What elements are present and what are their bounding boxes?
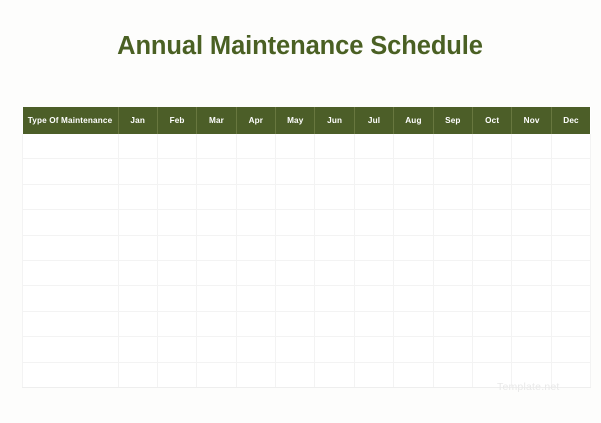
cell-feb[interactable] xyxy=(157,362,196,387)
cell-jun[interactable] xyxy=(315,184,354,209)
cell-mar[interactable] xyxy=(197,235,236,260)
cell-apr[interactable] xyxy=(236,286,275,311)
cell-jun[interactable] xyxy=(315,260,354,285)
cell-oct[interactable] xyxy=(473,260,512,285)
cell-may[interactable] xyxy=(276,235,315,260)
cell-jun[interactable] xyxy=(315,337,354,362)
cell-oct[interactable] xyxy=(473,311,512,336)
cell-apr[interactable] xyxy=(236,362,275,387)
cell-jul[interactable] xyxy=(354,362,393,387)
cell-jul[interactable] xyxy=(354,210,393,235)
schedule-page: Annual Maintenance Schedule Type Of Main… xyxy=(0,0,601,423)
schedule-table-container: Type Of MaintenanceJanFebMarAprMayJunJul… xyxy=(22,107,578,388)
cell-oct[interactable] xyxy=(473,134,512,159)
cell-mar[interactable] xyxy=(197,134,236,159)
annual-maintenance-table: Type Of MaintenanceJanFebMarAprMayJunJul… xyxy=(22,107,591,388)
cell-oct[interactable] xyxy=(473,337,512,362)
cell-sep[interactable] xyxy=(433,260,472,285)
cell-jan[interactable] xyxy=(118,235,157,260)
cell-may[interactable] xyxy=(276,311,315,336)
cell-may[interactable] xyxy=(276,362,315,387)
column-header-dec[interactable]: Dec xyxy=(551,107,590,134)
cell-mar[interactable] xyxy=(197,337,236,362)
cell-apr[interactable] xyxy=(236,184,275,209)
cell-sep[interactable] xyxy=(433,337,472,362)
cell-oct[interactable] xyxy=(473,184,512,209)
cell-jan[interactable] xyxy=(118,159,157,184)
cell-nov[interactable] xyxy=(512,184,551,209)
cell-nov[interactable] xyxy=(512,134,551,159)
cell-nov[interactable] xyxy=(512,286,551,311)
cell-mar[interactable] xyxy=(197,286,236,311)
cell-apr[interactable] xyxy=(236,337,275,362)
cell-apr[interactable] xyxy=(236,134,275,159)
cell-sep[interactable] xyxy=(433,134,472,159)
cell-aug[interactable] xyxy=(394,184,433,209)
cell-jul[interactable] xyxy=(354,260,393,285)
cell-may[interactable] xyxy=(276,286,315,311)
cell-aug[interactable] xyxy=(394,134,433,159)
cell-jan[interactable] xyxy=(118,362,157,387)
column-header-may[interactable]: May xyxy=(276,107,315,134)
column-header-jul[interactable]: Jul xyxy=(354,107,393,134)
cell-jun[interactable] xyxy=(315,311,354,336)
cell-sep[interactable] xyxy=(433,286,472,311)
table-row xyxy=(23,159,591,184)
cell-dec[interactable] xyxy=(551,184,590,209)
cell-type[interactable] xyxy=(23,260,119,285)
table-row xyxy=(23,260,591,285)
column-header-sep[interactable]: Sep xyxy=(433,107,472,134)
cell-feb[interactable] xyxy=(157,210,196,235)
page-title: Annual Maintenance Schedule xyxy=(22,29,578,63)
cell-dec[interactable] xyxy=(551,311,590,336)
cell-may[interactable] xyxy=(276,337,315,362)
cell-type[interactable] xyxy=(23,184,119,209)
cell-may[interactable] xyxy=(276,134,315,159)
cell-jan[interactable] xyxy=(118,286,157,311)
cell-feb[interactable] xyxy=(157,134,196,159)
cell-oct[interactable] xyxy=(473,286,512,311)
table-row xyxy=(23,286,591,311)
cell-type[interactable] xyxy=(23,159,119,184)
cell-dec[interactable] xyxy=(551,260,590,285)
cell-jun[interactable] xyxy=(315,159,354,184)
cell-mar[interactable] xyxy=(197,159,236,184)
cell-nov[interactable] xyxy=(512,260,551,285)
cell-mar[interactable] xyxy=(197,210,236,235)
cell-jul[interactable] xyxy=(354,159,393,184)
table-row xyxy=(23,134,591,159)
cell-jun[interactable] xyxy=(315,235,354,260)
cell-nov[interactable] xyxy=(512,311,551,336)
table-row xyxy=(23,337,591,362)
cell-feb[interactable] xyxy=(157,260,196,285)
cell-nov[interactable] xyxy=(512,235,551,260)
cell-sep[interactable] xyxy=(433,210,472,235)
cell-mar[interactable] xyxy=(197,260,236,285)
cell-apr[interactable] xyxy=(236,210,275,235)
cell-mar[interactable] xyxy=(197,362,236,387)
cell-may[interactable] xyxy=(276,184,315,209)
cell-jul[interactable] xyxy=(354,337,393,362)
cell-may[interactable] xyxy=(276,210,315,235)
cell-apr[interactable] xyxy=(236,311,275,336)
table-header-row: Type Of MaintenanceJanFebMarAprMayJunJul… xyxy=(23,107,591,134)
column-header-jan[interactable]: Jan xyxy=(118,107,157,134)
cell-type[interactable] xyxy=(23,286,119,311)
cell-mar[interactable] xyxy=(197,184,236,209)
cell-type[interactable] xyxy=(23,311,119,336)
cell-sep[interactable] xyxy=(433,159,472,184)
cell-aug[interactable] xyxy=(394,159,433,184)
cell-type[interactable] xyxy=(23,210,119,235)
cell-feb[interactable] xyxy=(157,286,196,311)
cell-type[interactable] xyxy=(23,362,119,387)
cell-oct[interactable] xyxy=(473,159,512,184)
cell-jan[interactable] xyxy=(118,337,157,362)
table-row xyxy=(23,210,591,235)
cell-jan[interactable] xyxy=(118,184,157,209)
cell-feb[interactable] xyxy=(157,311,196,336)
cell-feb[interactable] xyxy=(157,235,196,260)
watermark: Template.net xyxy=(497,381,560,393)
column-header-aug[interactable]: Aug xyxy=(394,107,433,134)
cell-apr[interactable] xyxy=(236,235,275,260)
cell-jul[interactable] xyxy=(354,286,393,311)
cell-jun[interactable] xyxy=(315,134,354,159)
cell-type[interactable] xyxy=(23,337,119,362)
cell-aug[interactable] xyxy=(394,362,433,387)
cell-feb[interactable] xyxy=(157,337,196,362)
cell-oct[interactable] xyxy=(473,210,512,235)
cell-apr[interactable] xyxy=(236,159,275,184)
table-row xyxy=(23,235,591,260)
table-header: Type Of MaintenanceJanFebMarAprMayJunJul… xyxy=(23,107,591,134)
column-header-nov[interactable]: Nov xyxy=(512,107,551,134)
cell-nov[interactable] xyxy=(512,159,551,184)
cell-may[interactable] xyxy=(276,159,315,184)
cell-dec[interactable] xyxy=(551,159,590,184)
cell-may[interactable] xyxy=(276,260,315,285)
cell-jun[interactable] xyxy=(315,286,354,311)
cell-jul[interactable] xyxy=(354,184,393,209)
cell-type[interactable] xyxy=(23,134,119,159)
column-header-mar[interactable]: Mar xyxy=(197,107,236,134)
cell-sep[interactable] xyxy=(433,362,472,387)
cell-sep[interactable] xyxy=(433,311,472,336)
cell-jan[interactable] xyxy=(118,134,157,159)
cell-oct[interactable] xyxy=(473,235,512,260)
cell-aug[interactable] xyxy=(394,260,433,285)
cell-aug[interactable] xyxy=(394,337,433,362)
cell-jul[interactable] xyxy=(354,134,393,159)
cell-sep[interactable] xyxy=(433,235,472,260)
cell-aug[interactable] xyxy=(394,210,433,235)
cell-dec[interactable] xyxy=(551,210,590,235)
column-header-feb[interactable]: Feb xyxy=(157,107,196,134)
table-body xyxy=(23,134,591,387)
cell-mar[interactable] xyxy=(197,311,236,336)
cell-jun[interactable] xyxy=(315,362,354,387)
cell-jun[interactable] xyxy=(315,210,354,235)
cell-nov[interactable] xyxy=(512,337,551,362)
cell-feb[interactable] xyxy=(157,159,196,184)
table-row xyxy=(23,184,591,209)
column-header-type[interactable]: Type Of Maintenance xyxy=(23,107,119,134)
cell-jul[interactable] xyxy=(354,311,393,336)
cell-type[interactable] xyxy=(23,235,119,260)
cell-aug[interactable] xyxy=(394,311,433,336)
table-row xyxy=(23,311,591,336)
cell-dec[interactable] xyxy=(551,134,590,159)
cell-dec[interactable] xyxy=(551,286,590,311)
cell-feb[interactable] xyxy=(157,184,196,209)
column-header-apr[interactable]: Apr xyxy=(236,107,275,134)
cell-nov[interactable] xyxy=(512,210,551,235)
cell-jan[interactable] xyxy=(118,210,157,235)
cell-dec[interactable] xyxy=(551,337,590,362)
column-header-oct[interactable]: Oct xyxy=(473,107,512,134)
cell-apr[interactable] xyxy=(236,260,275,285)
column-header-jun[interactable]: Jun xyxy=(315,107,354,134)
cell-jan[interactable] xyxy=(118,260,157,285)
cell-aug[interactable] xyxy=(394,286,433,311)
cell-aug[interactable] xyxy=(394,235,433,260)
cell-sep[interactable] xyxy=(433,184,472,209)
cell-dec[interactable] xyxy=(551,235,590,260)
cell-jan[interactable] xyxy=(118,311,157,336)
cell-jul[interactable] xyxy=(354,235,393,260)
